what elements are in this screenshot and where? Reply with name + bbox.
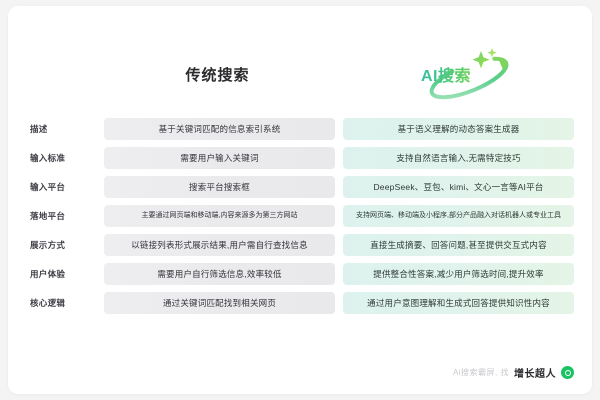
cell-traditional: 搜索平台搜索框 [104, 176, 335, 198]
cell-traditional: 需要用户输入关键词 [104, 147, 335, 169]
table-row: 展示方式以链接列表形式展示结果,用户需自行查找信息直接生成摘要、回答问题,甚至提… [8, 234, 592, 256]
watermark-brand-text: 增长超人 [514, 365, 556, 380]
footer-watermark: Ai搜索霸屏, 找 增长超人 [453, 365, 574, 380]
cell-ai: 直接生成摘要、回答问题,甚至提供交互式内容 [343, 234, 574, 256]
sparkle-large-icon [472, 51, 489, 68]
cell-ai: 支持自然语言输入,无需特定技巧 [343, 147, 574, 169]
row-label: 用户体验 [30, 268, 96, 280]
row-label: 输入标准 [30, 152, 96, 164]
ai-search-logo: AI搜索 [413, 42, 533, 104]
table-row: 描述基于关键词匹配的信息索引系统基于语义理解的动态答案生成器 [8, 118, 592, 140]
comparison-card: 传统搜索 [8, 6, 592, 394]
table-row: 用户体验需要用户自行筛选信息,效率较低提供整合性答案,减少用户筛选时间,提升效率 [8, 263, 592, 285]
watermark-faint-text: Ai搜索霸屏, 找 [453, 367, 509, 378]
page-title-ai-search: AI搜索 [421, 62, 471, 86]
cell-ai: 基于语义理解的动态答案生成器 [343, 118, 574, 140]
cell-traditional: 需要用户自行筛选信息,效率较低 [104, 263, 335, 285]
cell-traditional: 通过关键词匹配找到相关网页 [104, 292, 335, 314]
row-label: 输入平台 [30, 181, 96, 193]
cell-ai: 提供整合性答案,减少用户筛选时间,提升效率 [343, 263, 574, 285]
cell-ai: DeepSeek、豆包、kimi、文心一言等AI平台 [343, 176, 574, 198]
table-row: 核心逻辑通过关键词匹配找到相关网页通过用户意图理解和生成式回答提供知识性内容 [8, 292, 592, 314]
cell-ai: 通过用户意图理解和生成式回答提供知识性内容 [343, 292, 574, 314]
table-row: 落地平台主要通过网页端和移动端,内容来源多为第三方网站支持网页端、移动端及小程序… [8, 205, 592, 227]
row-label: 落地平台 [30, 210, 96, 222]
row-label: 描述 [30, 123, 96, 135]
table-row: 输入平台搜索平台搜索框DeepSeek、豆包、kimi、文心一言等AI平台 [8, 176, 592, 198]
cell-traditional: 基于关键词匹配的信息索引系统 [104, 118, 335, 140]
cell-traditional: 主要通过网页端和移动端,内容来源多为第三方网站 [104, 205, 335, 227]
brand-badge-icon [561, 366, 574, 379]
page-title-traditional-search: 传统搜索 [100, 64, 335, 85]
headers-row: 传统搜索 [8, 6, 592, 114]
row-label: 展示方式 [30, 239, 96, 251]
row-label: 核心逻辑 [30, 297, 96, 309]
comparison-table: 描述基于关键词匹配的信息索引系统基于语义理解的动态答案生成器输入标准需要用户输入… [8, 118, 592, 321]
table-row: 输入标准需要用户输入关键词支持自然语言输入,无需特定技巧 [8, 147, 592, 169]
sparkle-small-icon [487, 48, 496, 57]
cell-ai: 支持网页端、移动端及小程序,部分产品融入对话机器人或专业工具 [343, 205, 574, 227]
cell-traditional: 以链接列表形式展示结果,用户需自行查找信息 [104, 234, 335, 256]
